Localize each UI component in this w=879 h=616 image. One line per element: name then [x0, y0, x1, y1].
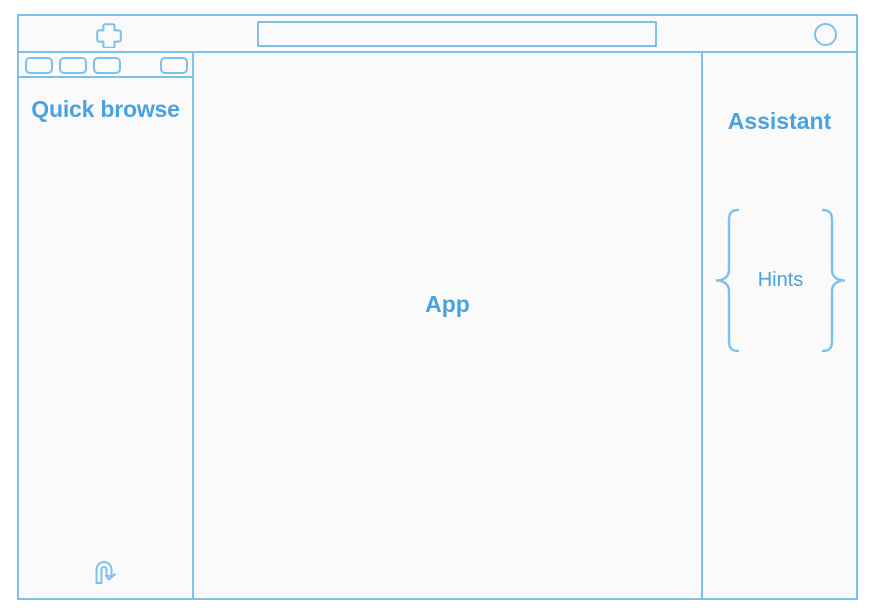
sidebar-title: Quick browse [19, 93, 192, 126]
assistant-title: Assistant [703, 108, 856, 135]
sidebar-tabbar [19, 53, 192, 78]
sidebar-tab-3[interactable] [93, 57, 121, 74]
window-body: Quick browse App Assistant [19, 53, 856, 598]
right-curly-brace-icon [818, 208, 848, 353]
u-turn-arrow-icon[interactable] [89, 556, 121, 586]
search-input[interactable] [257, 21, 657, 47]
left-sidebar: Quick browse [19, 53, 194, 598]
wireframe-canvas: Quick browse App Assistant [0, 0, 879, 616]
sidebar-tab-4[interactable] [160, 57, 188, 74]
top-toolbar [19, 16, 856, 53]
assistant-panel: Assistant Hints [703, 53, 856, 598]
window-frame: Quick browse App Assistant [17, 14, 858, 600]
sidebar-tab-1[interactable] [25, 57, 53, 74]
main-content-panel: App [194, 53, 703, 598]
hints-block: Hints [713, 208, 848, 353]
main-content-label: App [194, 53, 701, 598]
plus-icon[interactable] [96, 22, 122, 48]
sidebar-tab-2[interactable] [59, 57, 87, 74]
circle-avatar-icon[interactable] [814, 23, 837, 46]
